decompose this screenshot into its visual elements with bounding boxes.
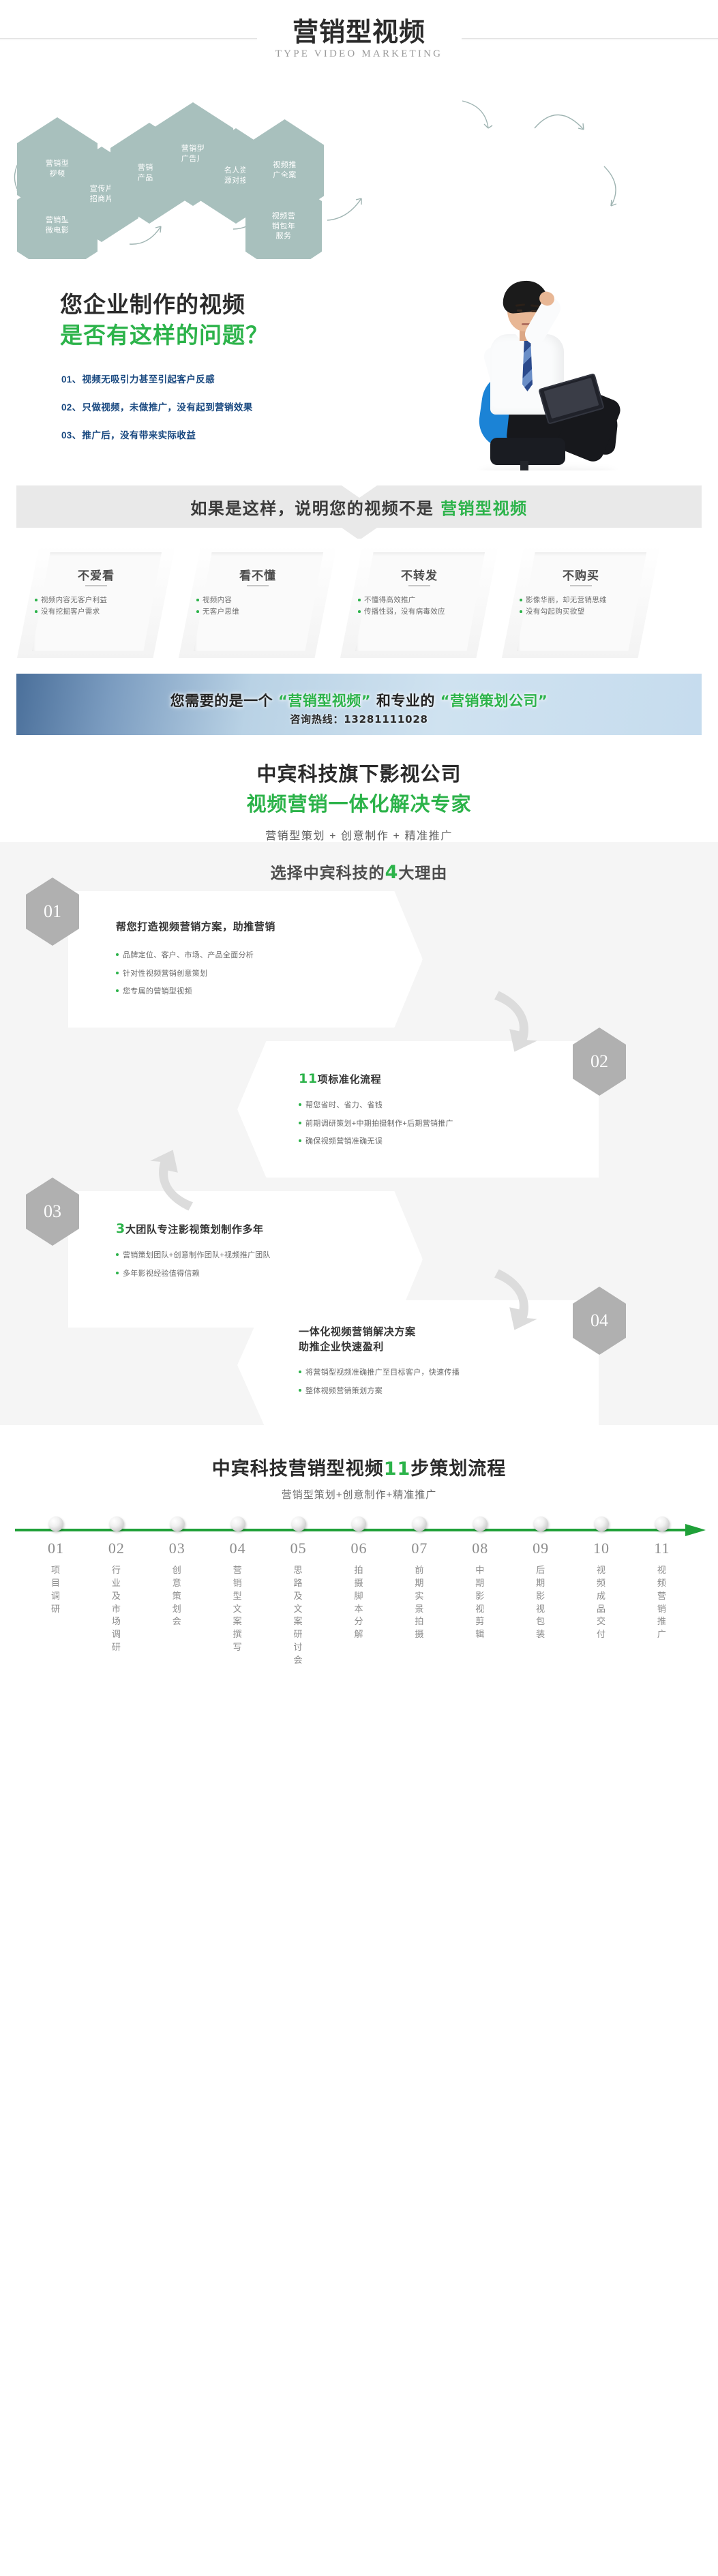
businessman-photo [432,266,629,470]
timeline-step-10[interactable]: 10视频成品交付 [581,1516,622,1667]
timeline-step-label: 项目调研 [35,1564,76,1615]
service-hexagon-label: 视频营 [272,211,296,222]
pain-point-divider [247,585,269,586]
service-hexagon-label: 名人资 [224,166,248,176]
timeline-dot-icon [473,1516,488,1531]
timeline-step-number: 08 [460,1540,500,1557]
company-line1: 中宾科技旗下影视公司 [0,758,718,787]
timeline-step-label: 拍摄脚本分解 [338,1564,379,1641]
timeline-step-label: 行业及市场调研 [96,1564,137,1654]
pain-point-title: 不购买 [502,566,660,583]
timeline-step-number: 09 [520,1540,561,1557]
steps-title-post: 步策划流程 [410,1458,506,1480]
reason-card-bullet: 帮您省时、省力、省钱 [299,1100,565,1111]
pain-point-bullets: 视频内容无客户利益没有挖掘客户需求 [17,595,175,618]
pain-point-card-3[interactable]: 不转发不懂得高效推广传播性弱，没有病毒效应 [340,545,498,658]
page-title: 营销型视频 [293,19,425,46]
flow-arrow-icon-6 [533,104,589,136]
flow-arrow-icon-4 [326,193,374,223]
reason-card-bullet: 确保视频营销准确无误 [299,1136,565,1148]
timeline-dot-icon [533,1516,548,1531]
pain-point-bullets: 不懂得高效推广传播性弱，没有病毒效应 [340,595,498,618]
service-hexagon-label: 微电影 [46,226,70,236]
company-intro-section: 中宾科技旗下影视公司 视频营销一体化解决专家 营销型策划 + 创意制作 + 精准… [0,743,718,842]
reasons-title: 选择中宾科技的4大理由 [0,860,718,883]
timeline-dot-icon [351,1516,366,1531]
timeline-step-03[interactable]: 03创意策划会 [157,1516,198,1667]
reason-card-heading: 3大团队专注影视策划制作多年 [116,1220,382,1239]
service-hexagon-label: 源对接 [224,176,248,186]
timeline-step-number: 05 [278,1540,319,1557]
timeline-step-number: 01 [35,1540,76,1557]
pain-point-bullets: 影像华丽，却无营销思维没有勾起购买欲望 [502,595,660,618]
steps-section: 中宾科技营销型视频11步策划流程 营销型策划+创意制作+精准推广 01项目调研0… [0,1425,718,1707]
timeline-step-number: 06 [338,1540,379,1557]
reason-card-heading-text: 大团队专注影视策划制作多年 [125,1223,264,1235]
gray-banner-section: 如果是这样，说明您的视频不是 营销型视频 [0,470,718,539]
necktie [522,341,533,391]
reason-card-heading: 帮您打造视频营销方案，助推营销 [116,920,382,935]
reason-card-04[interactable]: 一体化视频营销解决方案 助推企业快速盈利将营销型视频准确推广至目标客户，快速传播… [237,1300,599,1430]
blue-banner-p1: 您需要的是一个 [170,693,273,709]
reason-card-01[interactable]: 帮您打造视频营销方案，助推营销品牌定位、客户、市场、产品全面分析针对性视频营销创… [68,891,423,1028]
reason-card-bullet: 多年影视经验值得信赖 [116,1268,389,1280]
timeline-step-number: 04 [218,1540,258,1557]
steps-title: 中宾科技营销型视频11步策划流程 [0,1454,718,1480]
reason-card-bullets: 营销策划团队+创意制作团队+视频推广团队多年影视经验值得信赖 [116,1243,389,1279]
problem-item-text: 只做视频，未做推广，没有起到营销效果 [82,400,252,413]
pain-point-divider [570,585,592,586]
flow-arrow-icon-7 [600,164,626,210]
timeline-step-label: 视频营销推广 [642,1564,683,1641]
timeline-step-07[interactable]: 07前期实景拍摄 [399,1516,440,1667]
timeline-step-label: 前期实景拍摄 [399,1564,440,1641]
reasons-title-post: 大理由 [398,865,447,882]
timeline-dot-icon [109,1516,124,1531]
service-hexagon-label: 招商片 [90,194,114,205]
reason-card-bullet: 将营销型视频准确推广至目标客户，快速传播 [299,1367,565,1379]
reason-card-bullets: 品牌定位、客户、市场、产品全面分析针对性视频营销创意策划您专属的营销型视频 [116,943,389,998]
problem-item-number: 02、 [61,400,81,413]
problem-heading-line1: 您企业制作的视频 [60,286,245,319]
service-hexagon-label: 服务 [276,231,292,241]
pain-point-title: 不爱看 [17,566,175,583]
pain-point-cards-section: 不爱看视频内容无客户利益没有挖掘客户需求看不懂视频内容无客户思维不转发不懂得高效… [0,539,718,661]
timeline-step-label: 创意策划会 [157,1564,198,1628]
reason-card-bullets: 帮您省时、省力、省钱前期调研策划+中期拍摄制作+后期营销推广确保视频营销准确无误 [299,1093,565,1148]
timeline-step-number: 02 [96,1540,137,1557]
timeline-step-08[interactable]: 08中期影视剪辑 [460,1516,500,1667]
reason-card-heading: 11项标准化流程 [299,1070,558,1089]
pain-point-bullet: 无客户思维 [196,606,319,618]
timeline-step-11[interactable]: 11视频营销推广 [642,1516,683,1667]
service-hexagon-label: 销包年 [272,222,296,232]
pain-point-card-1[interactable]: 不爱看视频内容无客户利益没有挖掘客户需求 [17,545,175,658]
timeline-dot-icon [170,1516,185,1531]
gray-banner-text: 如果是这样，说明您的视频不是 [190,499,440,518]
reason-card-bullet: 您专属的营销型视频 [116,986,389,998]
timeline-step-number: 10 [581,1540,622,1557]
timeline-step-number: 03 [157,1540,198,1557]
problem-item-number: 03、 [61,428,81,441]
reason-card-02[interactable]: 11项标准化流程帮您省时、省力、省钱前期调研策划+中期拍摄制作+后期营销推广确保… [237,1041,599,1178]
services-hexagon-section: 营销型视频营销型微电影宣传片招商片营销型产品片营销型广告片名人资源对接视频推广全… [0,95,718,259]
reason-card-bullet: 针对性视频营销创意策划 [116,968,389,980]
reason-card-bullets: 将营销型视频准确推广至目标客户，快速传播整体视频营销策划方案 [299,1360,565,1396]
steps-list: 01项目调研02行业及市场调研03创意策划会04营销型文案撰写05思路及文案研讨… [0,1516,718,1667]
service-hexagon-label: 营销型 [46,159,70,169]
timeline-step-09[interactable]: 09后期影视包装 [520,1516,561,1667]
timeline-step-label: 中期影视剪辑 [460,1564,500,1641]
timeline-step-label: 营销型文案撰写 [218,1564,258,1654]
pain-point-bullet: 不懂得高效推广 [358,595,481,606]
blue-banner-q2: “营销策划公司” [440,693,548,709]
pain-point-divider [85,585,107,586]
blue-banner-q1: “营销型视频” [278,693,371,709]
pain-point-card-4[interactable]: 不购买影像华丽，却无营销思维没有勾起购买欲望 [502,545,660,658]
pain-point-title: 不转发 [340,566,498,583]
problem-item-number: 01、 [61,372,81,385]
timeline-dot-icon [655,1516,670,1531]
timeline-step-number: 11 [642,1540,683,1557]
service-hexagon-label: 宣传片 [90,184,114,194]
reason-card-heading-text: 一体化视频营销解决方案 助推企业快速盈利 [299,1326,416,1353]
pain-point-bullet: 没有勾起购买欲望 [520,606,642,618]
problem-list: 01、视频无吸引力甚至引起客户反感02、只做视频，未做推广，没有起到营销效果03… [61,372,253,455]
reason-card-bullet: 品牌定位、客户、市场、产品全面分析 [116,950,389,961]
reasons-title-number: 4 [385,862,399,883]
timeline-dot-icon [594,1516,609,1531]
reason-card-heading-text: 项标准化流程 [318,1073,382,1085]
problem-item-3: 03、推广后，没有带来实际收益 [61,428,253,441]
timeline-step-label: 视频成品交付 [581,1564,622,1641]
pain-point-bullet: 视频内容无客户利益 [35,595,158,606]
pain-point-divider [408,585,430,586]
blue-banner-p2: 和专业的 [376,693,435,709]
timeline-step-label: 思路及文案研讨会 [278,1564,319,1667]
gray-banner: 如果是这样，说明您的视频不是 营销型视频 [16,485,702,528]
header-logo-frame: 营销型视频 TYPE VIDEO MARKETING [257,5,462,74]
problem-item-2: 02、只做视频，未做推广，没有起到营销效果 [61,400,253,413]
reason-card-heading-text: 帮您打造视频营销方案，助推营销 [116,920,275,933]
timeline-step-number: 07 [399,1540,440,1557]
steps-title-number: 11 [384,1458,411,1480]
problem-item-text: 视频无吸引力甚至引起客户反感 [82,372,215,385]
timeline-step-06[interactable]: 06拍摄脚本分解 [338,1516,379,1667]
problem-section: 您企业制作的视频 是否有这样的问题？ 01、视频无吸引力甚至引起客户反感02、只… [0,259,718,470]
reason-card-bullet: 前期调研策划+中期拍摄制作+后期营销推广 [299,1118,565,1130]
hotline-text: 咨询热线：13281111028 [16,712,702,726]
steps-subtitle: 营销型策划+创意制作+精准推广 [0,1487,718,1501]
page-subtitle: TYPE VIDEO MARKETING [275,48,443,60]
pain-point-bullet: 传播性弱，没有病毒效应 [358,606,481,618]
problem-item-text: 推广后，没有带来实际收益 [82,428,196,441]
reasons-title-pre: 选择中宾科技的 [271,865,385,882]
pain-point-bullets: 视频内容无客户思维 [179,595,337,618]
timeline-step-label: 后期影视包装 [520,1564,561,1641]
company-line2: 视频营销一体化解决专家 [0,788,718,817]
landing-page: 营销型视频 TYPE VIDEO MARKETING 营销型视频营销型微电影宣传… [0,0,718,1707]
timeline-step-02[interactable]: 02行业及市场调研 [96,1516,137,1667]
timeline-dot-icon [412,1516,427,1531]
timeline-step-04[interactable]: 04营销型文案撰写 [218,1516,258,1667]
steps-title-pre: 中宾科技营销型视频 [212,1458,384,1480]
reason-card-heading-number: 3 [116,1221,125,1236]
reason-card-bullet: 整体视频营销策划方案 [299,1386,565,1397]
blue-banner: 您需要的是一个 “营销型视频” 和专业的 “营销策划公司” 咨询热线：13281… [16,674,702,735]
pain-point-bullet: 没有挖掘客户需求 [35,606,158,618]
gray-banner-highlight: 营销型视频 [440,499,528,518]
flow-arrow-icon-2 [128,222,173,247]
pain-point-bullet: 视频内容 [196,595,319,606]
timeline-step-05[interactable]: 05思路及文案研讨会 [278,1516,319,1667]
pain-point-card-2[interactable]: 看不懂视频内容无客户思维 [179,545,337,658]
flow-arrow-icon-5 [461,97,500,135]
pain-point-title: 看不懂 [179,566,337,583]
timeline-dot-icon [291,1516,306,1531]
header-section: 营销型视频 TYPE VIDEO MARKETING [0,0,718,95]
blue-banner-section: 您需要的是一个 “营销型视频” 和专业的 “营销策划公司” 咨询热线：13281… [0,661,718,743]
pain-point-bullet: 影像华丽，却无营销思维 [520,595,642,606]
service-hexagon-label: 视频推 [273,160,297,170]
timeline-dot-icon [48,1516,63,1531]
reason-card-heading-number: 11 [299,1071,318,1086]
timeline-dot-icon [230,1516,245,1531]
problem-item-1: 01、视频无吸引力甚至引起客户反感 [61,372,253,385]
reason-card-bullet: 营销策划团队+创意制作团队+视频推广团队 [116,1250,389,1261]
timeline-step-01[interactable]: 01项目调研 [35,1516,76,1667]
problem-heading-line2: 是否有这样的问题？ [60,317,269,350]
company-line3: 营销型策划 + 创意制作 + 精准推广 [0,826,718,843]
reasons-section: 选择中宾科技的4大理由 帮您打造视频营销方案，助推营销品牌定位、客户、市场、产品… [0,842,718,1425]
